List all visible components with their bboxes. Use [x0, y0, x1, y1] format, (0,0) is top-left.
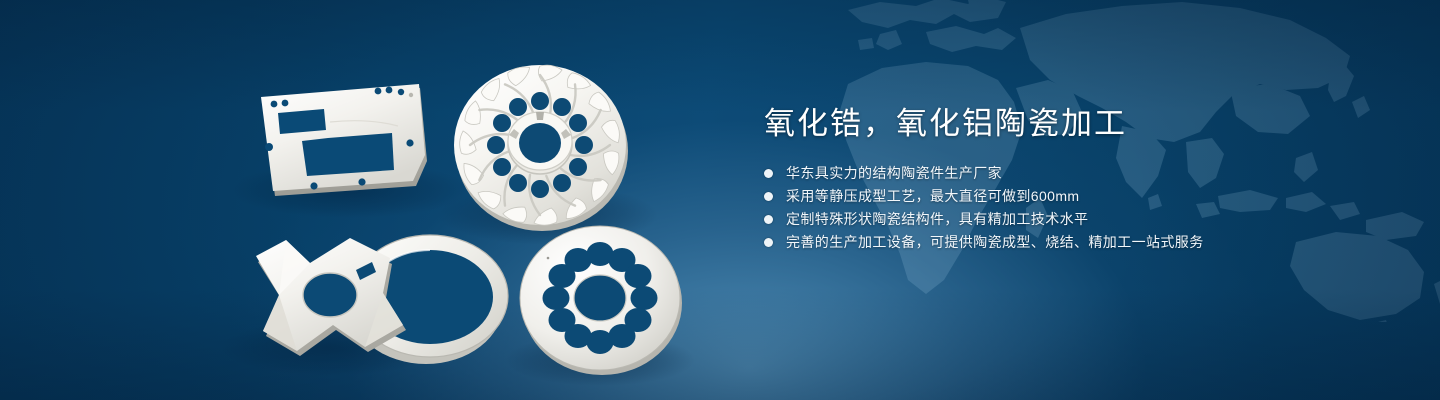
bullet-dot-icon — [764, 238, 773, 247]
bullet-dot-icon — [764, 215, 773, 224]
list-item: 定制特殊形状陶瓷结构件，具有精加工技术水平 — [764, 212, 1384, 227]
ceramic-perforated-disc — [520, 226, 682, 375]
product-photo-cluster — [0, 0, 720, 400]
ceramic-machined-plate — [261, 84, 427, 196]
list-item-label: 定制特殊形状陶瓷结构件，具有精加工技术水平 — [786, 212, 1088, 227]
list-item: 华东具实力的结构陶瓷件生产厂家 — [764, 166, 1384, 181]
bullet-dot-icon — [764, 169, 773, 178]
list-item: 采用等静压成型工艺，最大直径可做到600mm — [764, 189, 1384, 204]
list-item: 完善的生产加工设备，可提供陶瓷成型、烧结、精加工一站式服务 — [764, 235, 1384, 250]
list-item-label: 采用等静压成型工艺，最大直径可做到600mm — [786, 189, 1079, 204]
page-title: 氧化锆，氧化铝陶瓷加工 — [764, 104, 1384, 144]
bullet-dot-icon — [764, 192, 773, 201]
feature-list: 华东具实力的结构陶瓷件生产厂家 采用等静压成型工艺，最大直径可做到600mm 定… — [764, 166, 1384, 250]
list-item-label: 完善的生产加工设备，可提供陶瓷成型、烧结、精加工一站式服务 — [786, 235, 1204, 250]
hero-banner: 氧化锆，氧化铝陶瓷加工 华东具实力的结构陶瓷件生产厂家 采用等静压成型工艺，最大… — [0, 0, 1440, 400]
banner-text-block: 氧化锆，氧化铝陶瓷加工 华东具实力的结构陶瓷件生产厂家 采用等静压成型工艺，最大… — [764, 104, 1384, 258]
ceramic-impeller-rotor — [454, 63, 628, 231]
list-item-label: 华东具实力的结构陶瓷件生产厂家 — [786, 166, 1002, 181]
